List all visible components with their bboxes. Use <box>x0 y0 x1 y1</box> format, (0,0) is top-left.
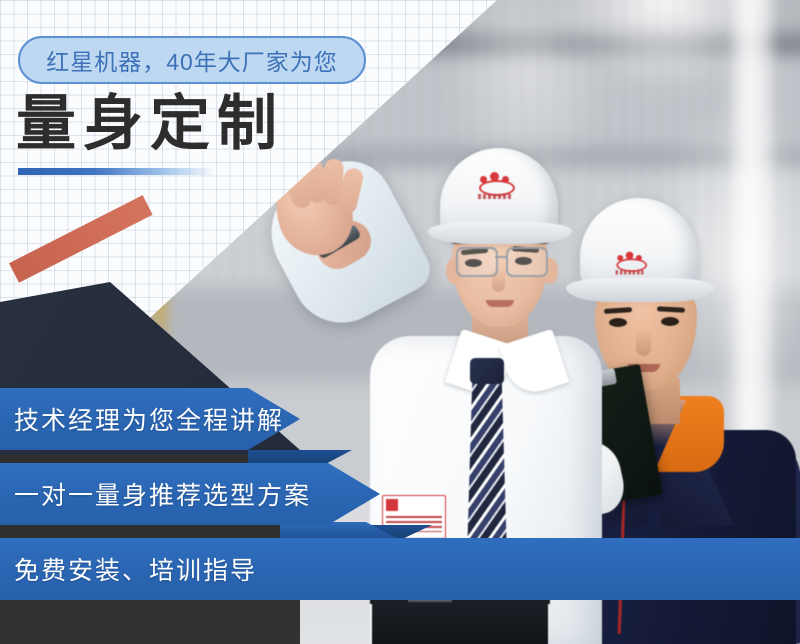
engineer-mouth <box>486 300 514 307</box>
headline-badge: 红星机器，40年大厂家为您 <box>18 36 366 84</box>
bottom-dark-strip <box>0 600 300 644</box>
technician-eye-left <box>609 318 627 327</box>
feature-ribbon-3-label: 免费安装、培训指导 <box>0 551 257 587</box>
title-underline <box>18 168 216 175</box>
hard-hat-brand-logo-icon <box>616 252 645 270</box>
feature-ribbon-3: 免费安装、培训指导 <box>0 538 800 600</box>
promotional-banner: 红星机器，40年大厂家为您 量身定制 技术经理为您全程讲解 一对一量身推荐选型方… <box>0 0 800 644</box>
feature-ribbon-1: 技术经理为您全程讲解 <box>0 388 300 450</box>
engineer-trousers <box>372 602 548 644</box>
feature-ribbon-1-label: 技术经理为您全程讲解 <box>0 401 284 437</box>
engineer-tie-knot <box>470 358 504 384</box>
feature-ribbon-2: 一对一量身推荐选型方案 <box>0 463 380 525</box>
hard-hat-brand-logo-icon <box>478 172 512 193</box>
engineer-hard-hat-brim <box>428 222 572 244</box>
engineer-nose <box>492 266 505 292</box>
feature-ribbon-2-label: 一对一量身推荐选型方案 <box>0 476 311 512</box>
page-title: 量身定制 <box>16 94 284 154</box>
technician-eye-right <box>661 317 679 326</box>
headline-badge-label: 红星机器，40年大厂家为您 <box>46 43 338 77</box>
technician-hard-hat-brim <box>566 278 714 302</box>
technician-nose <box>636 328 651 356</box>
